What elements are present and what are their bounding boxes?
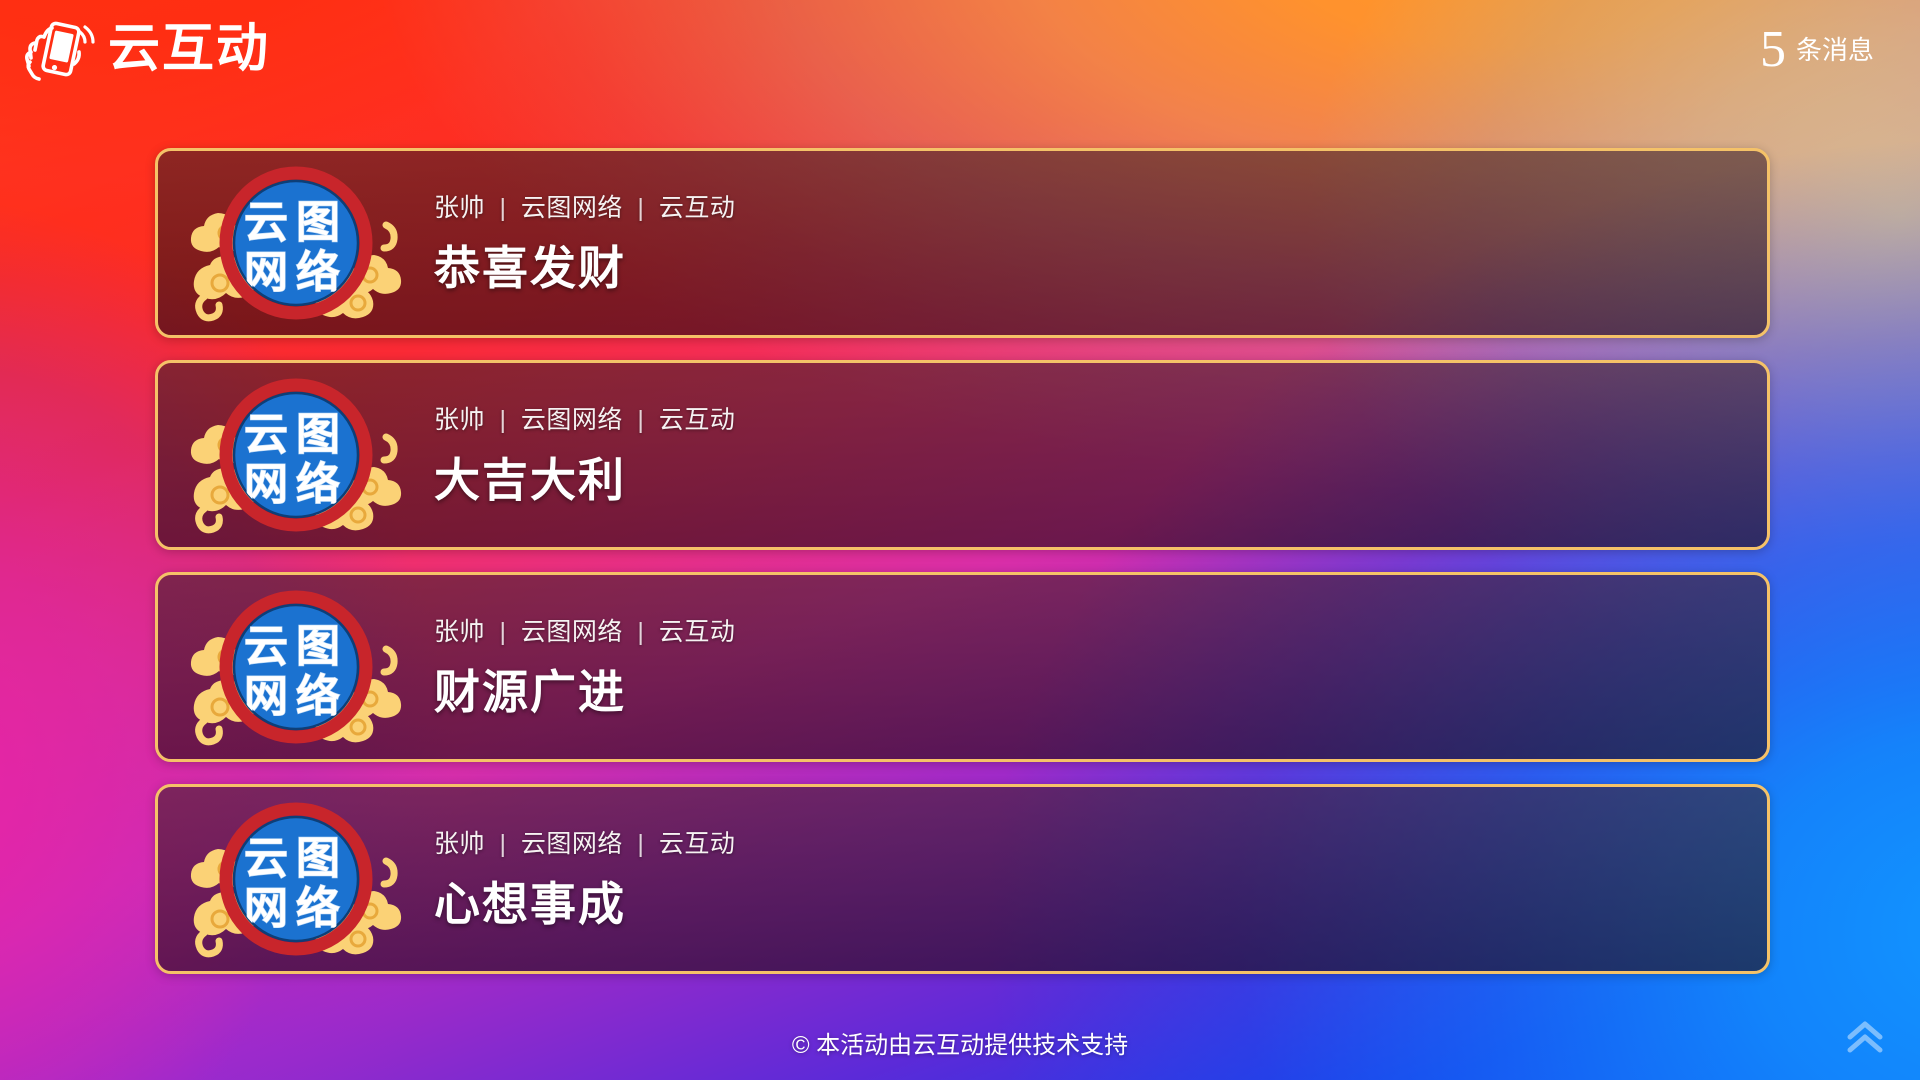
message-text: 心想事成 — [434, 868, 735, 934]
svg-text:云图: 云图 — [244, 833, 348, 884]
page-header: 云互动 5 条消息 — [0, 0, 1920, 110]
avatar: 云图 网络 — [180, 155, 412, 331]
message-channel: 云互动 — [659, 618, 736, 646]
message-body: 张帅 | 云图网络 | 云互动 恭喜发财 — [434, 188, 735, 298]
svg-text:云图: 云图 — [244, 621, 348, 672]
svg-text:网络: 网络 — [244, 459, 348, 510]
message-card[interactable]: 云图 网络 张帅 | 云图网络 | 云互动 大吉大利 — [155, 360, 1770, 550]
svg-text:网络: 网络 — [244, 883, 348, 934]
message-sender: 张帅 — [434, 194, 485, 222]
meta-separator: | — [492, 618, 513, 646]
message-company: 云图网络 — [521, 406, 623, 434]
message-channel: 云互动 — [659, 406, 736, 434]
message-sender: 张帅 — [434, 618, 485, 646]
avatar: 云图 网络 — [180, 579, 412, 755]
message-channel: 云互动 — [659, 830, 736, 858]
meta-separator: | — [492, 406, 513, 434]
message-company: 云图网络 — [521, 830, 623, 858]
message-meta: 张帅 | 云图网络 | 云互动 — [434, 612, 735, 648]
avatar: 云图 网络 — [180, 367, 412, 543]
message-channel: 云互动 — [659, 194, 736, 222]
message-counter: 5 条消息 — [1760, 26, 1874, 74]
footer-credit: © 本活动由云互动提供技术支持 — [0, 1025, 1920, 1060]
brand-logo[interactable]: 云互动 — [22, 12, 270, 86]
meta-separator: | — [630, 830, 651, 858]
meta-separator: | — [630, 194, 651, 222]
brand-name: 云互动 — [108, 23, 270, 75]
message-meta: 张帅 | 云图网络 | 云互动 — [434, 188, 735, 224]
message-text: 恭喜发财 — [434, 232, 735, 298]
svg-text:云图: 云图 — [244, 197, 348, 248]
svg-text:网络: 网络 — [244, 247, 348, 298]
avatar: 云图 网络 — [180, 791, 412, 967]
message-card[interactable]: 云图 网络 张帅 | 云图网络 | 云互动 恭喜发财 — [155, 148, 1770, 338]
message-company: 云图网络 — [521, 618, 623, 646]
message-list: 云图 网络 张帅 | 云图网络 | 云互动 恭喜发财 — [155, 148, 1770, 974]
message-card[interactable]: 云图 网络 张帅 | 云图网络 | 云互动 财源广进 — [155, 572, 1770, 762]
meta-separator: | — [630, 618, 651, 646]
message-body: 张帅 | 云图网络 | 云互动 大吉大利 — [434, 400, 735, 510]
message-text: 财源广进 — [434, 656, 735, 722]
svg-text:云图: 云图 — [244, 409, 348, 460]
message-sender: 张帅 — [434, 830, 485, 858]
meta-separator: | — [492, 830, 513, 858]
message-body: 张帅 | 云图网络 | 云互动 心想事成 — [434, 824, 735, 934]
meta-separator: | — [630, 406, 651, 434]
svg-text:网络: 网络 — [244, 671, 348, 722]
meta-separator: | — [492, 194, 513, 222]
message-count-label: 条消息 — [1796, 31, 1874, 74]
message-meta: 张帅 | 云图网络 | 云互动 — [434, 400, 735, 436]
message-count-value: 5 — [1760, 26, 1786, 74]
message-company: 云图网络 — [521, 194, 623, 222]
scroll-to-top-button[interactable] — [1828, 1000, 1902, 1074]
message-body: 张帅 | 云图网络 | 云互动 财源广进 — [434, 612, 735, 722]
double-chevron-up-icon — [1838, 1010, 1892, 1064]
hand-holding-phone-icon — [22, 12, 96, 86]
message-meta: 张帅 | 云图网络 | 云互动 — [434, 824, 735, 860]
message-sender: 张帅 — [434, 406, 485, 434]
message-card[interactable]: 云图 网络 张帅 | 云图网络 | 云互动 心想事成 — [155, 784, 1770, 974]
message-text: 大吉大利 — [434, 444, 735, 510]
